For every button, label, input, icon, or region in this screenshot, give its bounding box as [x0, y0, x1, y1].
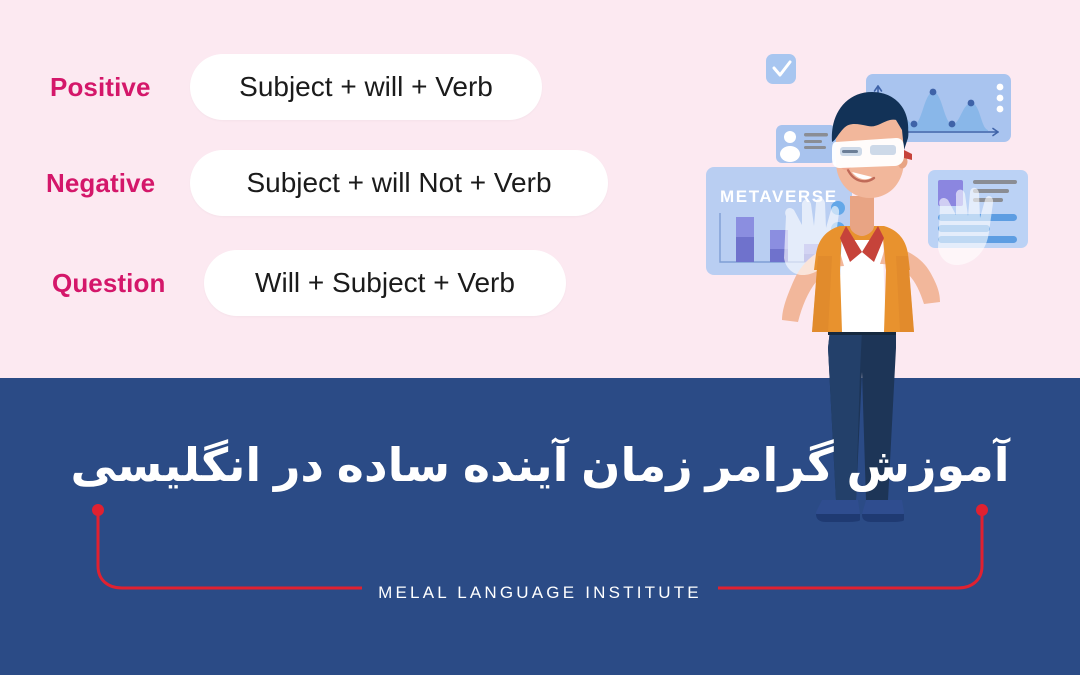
grammar-row-formula-pill: Subject + will Not + Verb: [190, 150, 608, 216]
page-title: آموزش گرامر زمان آینده ساده در انگلیسی: [0, 438, 1080, 493]
grammar-row-positive: Positive Subject + will + Verb: [50, 54, 542, 120]
grammar-row-label: Negative: [46, 170, 190, 196]
checkbox-icon: [766, 54, 796, 84]
contact-card-icon: [776, 125, 836, 163]
grammar-row-formula-pill: Will + Subject + Verb: [204, 250, 566, 316]
grammar-row-question: Question Will + Subject + Verb: [52, 250, 566, 316]
institute-name: MELAL LANGUAGE INSTITUTE: [0, 583, 1080, 603]
grammar-formula-list: Positive Subject + will + Verb Negative …: [0, 0, 660, 378]
institute-name-text: MELAL LANGUAGE INSTITUTE: [362, 583, 718, 602]
grammar-row-formula-pill: Subject + will + Verb: [190, 54, 542, 120]
vr-glasses-icon: [832, 138, 912, 168]
grammar-row-negative: Negative Subject + will Not + Verb: [46, 150, 608, 216]
poster-canvas: METAVERSE: [0, 0, 1080, 675]
grammar-row-label: Question: [52, 270, 204, 296]
grammar-row-label: Positive: [50, 74, 190, 100]
